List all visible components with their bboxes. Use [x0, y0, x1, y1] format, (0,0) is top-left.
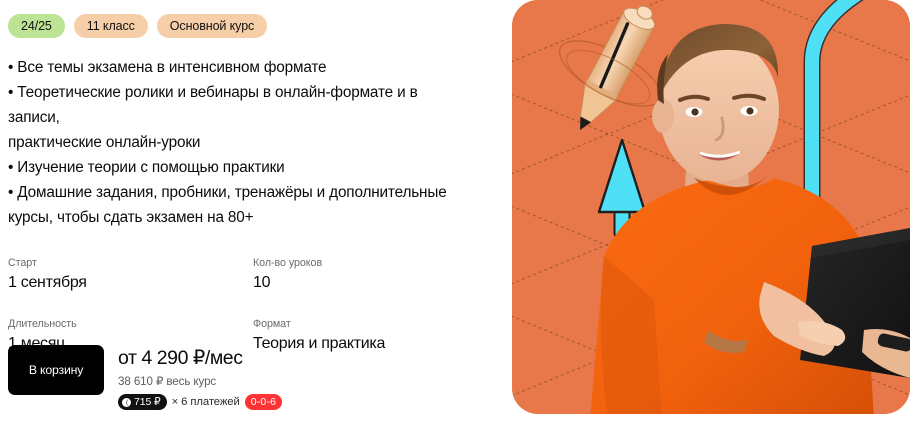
feature-line: • Все темы экзамена в интенсивном формат…	[8, 55, 460, 80]
price-monthly: от 4 290 ₽/мес	[118, 347, 282, 370]
price-block: от 4 290 ₽/мес 38 610 ₽ весь курс 715 ₽ …	[118, 345, 282, 410]
spec-label: Старт	[8, 256, 253, 270]
spec-row: Старт 1 сентября Кол-во уроков 10	[8, 256, 428, 293]
spec-value: 1 сентября	[8, 273, 253, 293]
hero-illustration	[512, 0, 910, 414]
price-total: 38 610 ₽ весь курс	[118, 375, 282, 389]
course-info-column: 24/25 11 класс Основной курс • Все темы …	[0, 0, 500, 423]
spec-lessons-count: Кол-во уроков 10	[253, 256, 498, 293]
split-payment-chip[interactable]: 715 ₽	[118, 394, 167, 410]
feature-line: • Изучение теории с помощью практики	[8, 155, 460, 180]
feature-line: • Теоретические ролики и вебинары в онла…	[8, 80, 460, 130]
badge-course-type: Основной курс	[157, 14, 267, 38]
feature-line: • Домашние задания, пробники, тренажёры …	[8, 180, 460, 205]
hero-image-card	[512, 0, 910, 414]
split-payment-count: × 6 платежей	[172, 396, 240, 408]
spec-label: Кол-во уроков	[253, 256, 498, 270]
course-features-list: • Все темы экзамена в интенсивном формат…	[8, 55, 460, 230]
split-payment-amount: 715 ₽	[134, 396, 161, 408]
spec-label: Длительность	[8, 317, 253, 331]
badge-year: 24/25	[8, 14, 65, 38]
badge-row: 24/25 11 класс Основной курс	[8, 14, 500, 38]
spec-start: Старт 1 сентября	[8, 256, 253, 293]
spec-label: Формат	[253, 317, 498, 331]
feature-line: практические онлайн-уроки	[8, 130, 460, 155]
add-to-cart-button[interactable]: В корзину	[8, 345, 104, 395]
spec-format: Формат Теория и практика	[253, 317, 498, 354]
crescent-moon-icon	[122, 398, 131, 407]
badge-grade: 11 класс	[74, 14, 148, 38]
spec-value: 10	[253, 273, 498, 293]
split-payment-row: 715 ₽ × 6 платежей 0-0-6	[118, 394, 282, 410]
course-card: 24/25 11 класс Основной курс • Все темы …	[0, 0, 910, 423]
purchase-block: В корзину от 4 290 ₽/мес 38 610 ₽ весь к…	[8, 345, 282, 410]
spec-value: Теория и практика	[253, 334, 498, 354]
split-payment-badge: 0-0-6	[245, 394, 283, 410]
course-specs: Старт 1 сентября Кол-во уроков 10 Длител…	[8, 256, 428, 354]
feature-line: курсы, чтобы сдать экзамен на 80+	[8, 205, 460, 230]
